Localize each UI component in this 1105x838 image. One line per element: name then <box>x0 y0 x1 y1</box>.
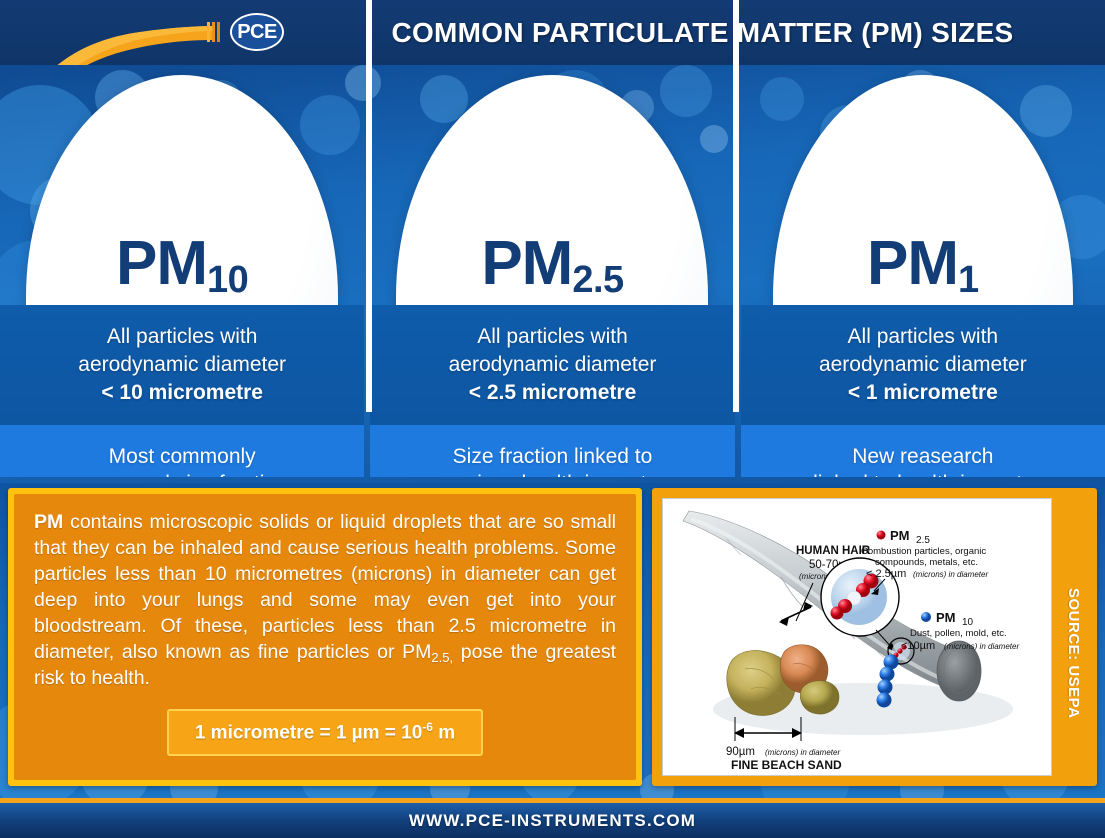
card-divider <box>366 0 372 412</box>
desc-threshold: < 1 micrometre <box>848 381 998 404</box>
page-footer: WWW.PCE-INSTRUMENTS.COM <box>0 803 1105 838</box>
pm-label-main: PM <box>481 229 572 298</box>
info-lead-bold: PM <box>34 511 63 533</box>
epa-scale-diagram: HUMAN HAIR 50-70µm (microns) in diameter <box>663 499 1052 776</box>
pm-label-subscript: 1 <box>958 259 979 301</box>
card-note-band: Size fraction linked to various health i… <box>370 425 734 477</box>
card-description-band: All particles with aerodynamic diameter … <box>741 305 1105 425</box>
pm-label-subscript: 2.5 <box>572 259 623 301</box>
desc-line-2: aerodynamic diameter <box>819 353 1027 376</box>
footer-url[interactable]: WWW.PCE-INSTRUMENTS.COM <box>409 811 696 831</box>
pm-label-subscript: 10 <box>207 259 248 301</box>
pm-card-label: PM1 <box>741 233 1105 295</box>
pm-label-main: PM <box>116 229 207 298</box>
pce-logo-text: PCE <box>237 22 277 42</box>
infographic-page: PCE COMMON PARTICULATE MATTER (PM) SIZES <box>0 0 1105 838</box>
epa-sand-size: 90µm <box>726 746 755 758</box>
card-note-band: Most commonly measured size fraction <box>0 425 364 477</box>
epa-sand-note: (microns) in diameter <box>765 748 840 757</box>
epa-sand-title: FINE BEACH SAND <box>731 758 842 772</box>
epa-pm25-desc2: compounds, metals, etc. <box>875 557 978 568</box>
logo-bars-icon <box>207 22 223 42</box>
pce-logo: PCE <box>230 13 284 51</box>
pm-cards-row: PM10 All particles with aerodynamic diam… <box>0 65 1105 477</box>
epa-pm10-size: <10µm <box>901 640 935 652</box>
epa-source-label: SOURCE: USEPA <box>1065 588 1093 778</box>
desc-threshold: < 2.5 micrometre <box>469 381 637 404</box>
pm-label-main: PM <box>867 229 958 298</box>
desc-line-1: All particles with <box>848 325 999 348</box>
desc-line-2: aerodynamic diameter <box>449 353 657 376</box>
epa-pm10-title: PM <box>936 610 956 625</box>
epa-pm25-desc1: Combustion particles, organic <box>861 546 986 557</box>
note-line-2: various health impacts <box>448 472 657 477</box>
formula-prefix: 1 micrometre = 1 µm = 10 <box>195 723 422 744</box>
desc-line-2: aerodynamic diameter <box>78 353 286 376</box>
footer-accent-rule <box>0 798 1105 803</box>
card-description-band: All particles with aerodynamic diameter … <box>370 305 734 425</box>
formula-suffix: m <box>433 723 455 744</box>
epa-pm25-size: < 2.5µm <box>866 568 906 580</box>
pm-card-pm10: PM10 All particles with aerodynamic diam… <box>0 65 364 477</box>
desc-threshold: < 10 micrometre <box>101 381 263 404</box>
note-line-1: Size fraction linked to <box>453 445 653 468</box>
card-note-band: New reasearch linked to health impacts <box>741 425 1105 477</box>
epa-diagram-panel: HUMAN HAIR 50-70µm (microns) in diameter <box>652 488 1097 786</box>
page-title: COMMON PARTICULATE MATTER (PM) SIZES <box>300 0 1105 65</box>
epa-pm25-title: PM <box>890 528 910 543</box>
pm-card-label: PM10 <box>0 233 364 295</box>
card-description-band: All particles with aerodynamic diameter … <box>0 305 364 425</box>
epa-pm10-note: (microns) in diameter <box>944 642 1019 651</box>
epa-hair-title: HUMAN HAIR <box>796 545 871 557</box>
epa-pm25-note: (microns) in diameter <box>913 570 988 579</box>
info-body-subscript: 2.5, <box>431 650 453 665</box>
info-panel-inner: PM contains microscopic solids or liquid… <box>14 494 636 780</box>
info-body-text: PM contains microscopic solids or liquid… <box>34 510 616 691</box>
info-panel: PM contains microscopic solids or liquid… <box>8 488 642 786</box>
pm-card-pm1: PM1 All particles with aerodynamic diame… <box>741 65 1105 477</box>
pm-card-label: PM2.5 <box>370 233 734 295</box>
note-line-1: Most commonly <box>109 445 256 468</box>
epa-pm25-sub: 2.5 <box>916 535 930 546</box>
note-line-2: measured size fraction <box>77 472 288 477</box>
formula-exponent: -6 <box>422 720 433 734</box>
epa-image-frame: HUMAN HAIR 50-70µm (microns) in diameter <box>662 498 1052 776</box>
formula-row: 1 micrometre = 1 µm = 10-6 m <box>34 709 616 755</box>
page-header: PCE COMMON PARTICULATE MATTER (PM) SIZES <box>0 0 1105 65</box>
desc-line-1: All particles with <box>107 325 258 348</box>
note-line-2: linked to health impacts <box>813 472 1032 477</box>
card-divider <box>733 0 739 412</box>
epa-pm10-desc1: Dust, pollen, mold, etc. <box>910 628 1007 639</box>
note-line-1: New reasearch <box>852 445 993 468</box>
pm-card-pm25: PM2.5 All particles with aerodynamic dia… <box>370 65 734 477</box>
desc-line-1: All particles with <box>477 325 628 348</box>
epa-pm10-sub: 10 <box>962 617 974 628</box>
unit-formula-box: 1 micrometre = 1 µm = 10-6 m <box>167 709 483 755</box>
